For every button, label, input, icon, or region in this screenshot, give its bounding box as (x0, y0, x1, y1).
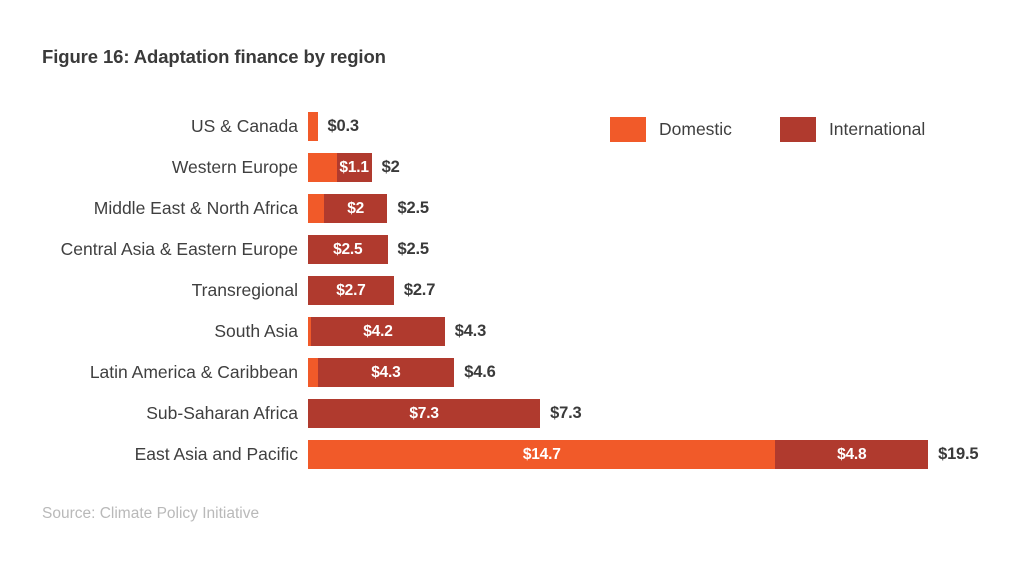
bar-total-label: $0.3 (328, 112, 359, 141)
bar-total-label: $19.5 (938, 440, 978, 469)
bar-category-label: Transregional (192, 276, 298, 305)
bar-row: Latin America & Caribbean$4.3$4.6 (0, 358, 1024, 399)
source-note: Source: Climate Policy Initiative (42, 505, 259, 523)
bar-category-label: US & Canada (191, 112, 298, 141)
bar-segment-international-value: $2.7 (336, 282, 365, 300)
bar-segment-international[interactable]: $2 (324, 194, 388, 223)
bar-segment-international[interactable]: $2.5 (308, 235, 388, 264)
bar-total-label: $7.3 (550, 399, 581, 428)
bar-track[interactable] (308, 112, 318, 141)
bar-segment-domestic[interactable]: $14.7 (308, 440, 775, 469)
bar-category-label: Latin America & Caribbean (90, 358, 298, 387)
bar-category-label: South Asia (214, 317, 298, 346)
bar-row: Central Asia & Eastern Europe$2.5$2.5 (0, 235, 1024, 276)
chart-plot-area: US & Canada$0.3Western Europe$1.1$2Middl… (0, 112, 1024, 481)
bar-total-label: $2 (382, 153, 400, 182)
bar-track[interactable]: $4.3 (308, 358, 454, 387)
bar-total-label: $4.6 (464, 358, 495, 387)
bar-segment-international-value: $4.2 (363, 323, 392, 341)
bar-segment-domestic-value: $14.7 (523, 446, 561, 464)
bar-row: Middle East & North Africa$2$2.5 (0, 194, 1024, 235)
bar-track[interactable]: $14.7$4.8 (308, 440, 928, 469)
bar-total-label: $2.7 (404, 276, 435, 305)
bar-segment-international[interactable]: $7.3 (308, 399, 540, 428)
bar-track[interactable]: $4.2 (308, 317, 445, 346)
bar-segment-international-value: $4.3 (371, 364, 400, 382)
bar-category-label: Sub-Saharan Africa (146, 399, 298, 428)
bar-track[interactable]: $2.7 (308, 276, 394, 305)
bar-segment-international-value: $1.1 (339, 159, 368, 177)
bar-segment-international-value: $7.3 (409, 405, 438, 423)
bar-total-label: $2.5 (398, 194, 429, 223)
bar-row: South Asia$4.2$4.3 (0, 317, 1024, 358)
bar-track[interactable]: $2 (308, 194, 388, 223)
bar-total-label: $4.3 (455, 317, 486, 346)
bar-category-label: East Asia and Pacific (135, 440, 298, 469)
bar-segment-international[interactable]: $4.8 (775, 440, 928, 469)
bar-track[interactable]: $1.1 (308, 153, 372, 182)
bar-segment-domestic[interactable] (308, 194, 324, 223)
bar-segment-international[interactable]: $2.7 (308, 276, 394, 305)
bar-category-label: Central Asia & Eastern Europe (61, 235, 298, 264)
bar-track[interactable]: $2.5 (308, 235, 388, 264)
bar-segment-international-value: $2 (347, 200, 364, 218)
bar-row: Western Europe$1.1$2 (0, 153, 1024, 194)
bar-segment-domestic[interactable] (308, 358, 318, 387)
bar-segment-international[interactable]: $1.1 (337, 153, 372, 182)
bar-segment-international-value: $2.5 (333, 241, 362, 259)
bar-segment-international-value: $4.8 (837, 446, 866, 464)
bar-category-label: Middle East & North Africa (94, 194, 298, 223)
bar-segment-international[interactable]: $4.3 (318, 358, 455, 387)
page-title: Figure 16: Adaptation finance by region (42, 46, 386, 68)
bar-row: East Asia and Pacific$14.7$4.8$19.5 (0, 440, 1024, 481)
bar-segment-domestic[interactable] (308, 153, 337, 182)
bar-row: Sub-Saharan Africa$7.3$7.3 (0, 399, 1024, 440)
bar-category-label: Western Europe (172, 153, 298, 182)
bar-track[interactable]: $7.3 (308, 399, 540, 428)
bar-row: Transregional$2.7$2.7 (0, 276, 1024, 317)
bar-total-label: $2.5 (398, 235, 429, 264)
bar-row: US & Canada$0.3 (0, 112, 1024, 153)
bar-segment-international[interactable]: $4.2 (311, 317, 445, 346)
bar-segment-domestic[interactable] (308, 112, 318, 141)
